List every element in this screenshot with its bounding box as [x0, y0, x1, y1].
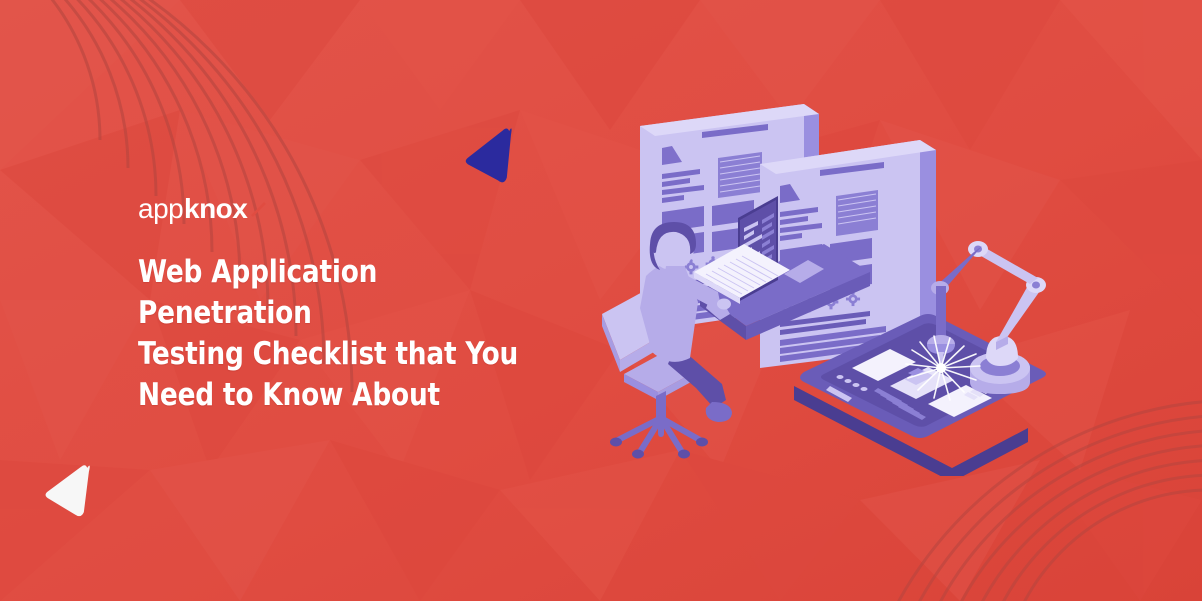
- logo-o-slash: [252, 203, 265, 216]
- hero-illustration-svg: [572, 96, 1072, 476]
- hero-illustration: [572, 96, 1072, 476]
- play-triangle-blue-icon: [462, 125, 524, 187]
- headline-line-1: Web Application Penetration: [138, 254, 377, 331]
- play-triangle-white-icon: [42, 462, 100, 520]
- headline-line-3: Need to Know About: [138, 377, 440, 413]
- headline-line-2: Testing Checklist that You: [138, 336, 518, 372]
- play-triangle-blue-svg: [462, 125, 524, 187]
- banner-hero: app knox Web Application Penetration Tes…: [0, 0, 1202, 601]
- spark-core: [936, 363, 946, 373]
- appknox-logo-svg: app knox: [138, 192, 298, 226]
- page-title: Web Application Penetration Testing Chec…: [138, 252, 538, 416]
- play-triangle-white-svg: [42, 462, 100, 520]
- appknox-logo[interactable]: app knox: [138, 192, 298, 226]
- logo-text-light: app: [138, 193, 183, 224]
- logo-text-bold: knox: [184, 193, 248, 224]
